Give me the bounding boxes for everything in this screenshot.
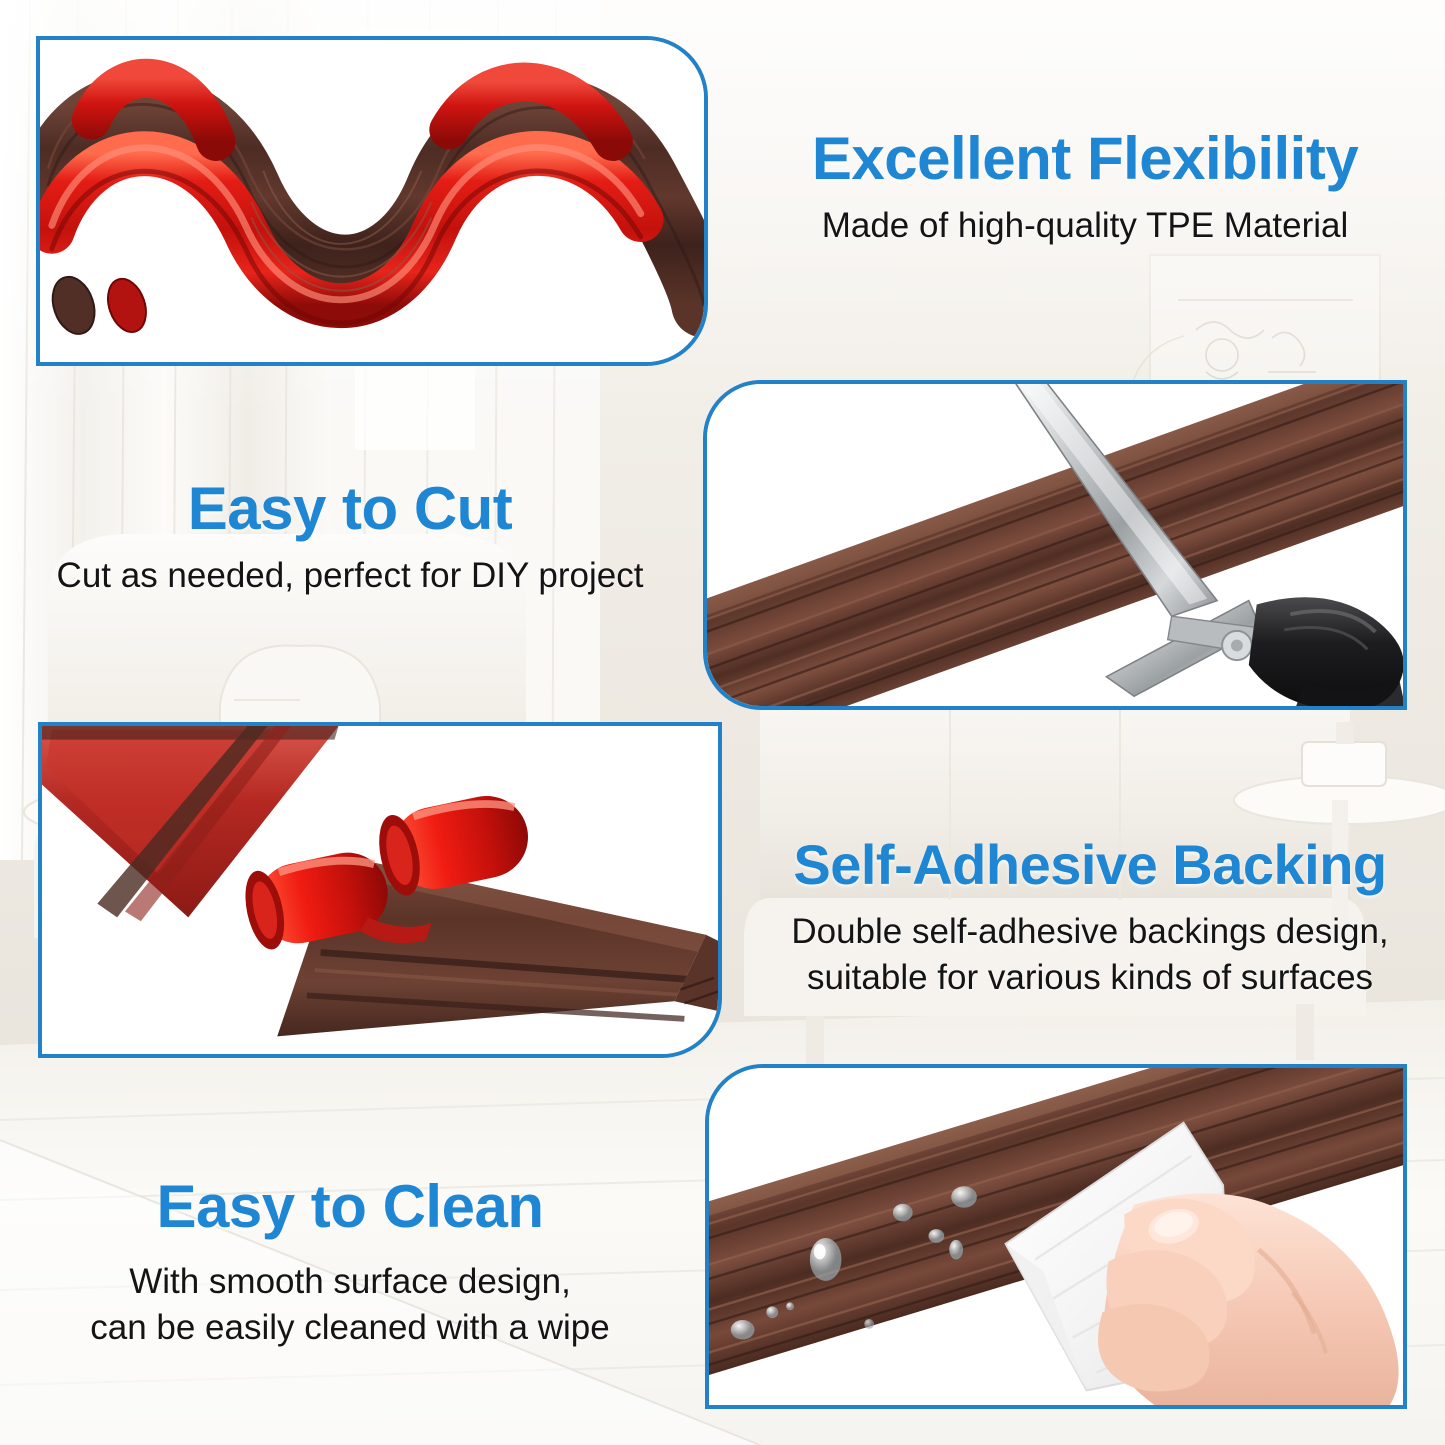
feature-image-panel-easy-to-cut: [703, 380, 1407, 710]
feature-text-self-adhesive: Self-Adhesive Backing Double self-adhesi…: [740, 836, 1440, 1000]
feature-text-easy-to-clean: Easy to Clean With smooth surface design…: [0, 1176, 700, 1350]
feature-subtext-easy-to-clean-line-1: With smooth surface design,: [0, 1259, 700, 1305]
feature-image-panel-self-adhesive: [38, 722, 722, 1058]
feature-text-flexibility: Excellent Flexibility Made of high-quali…: [735, 128, 1435, 249]
coiled-weather-strip-photo: [40, 40, 704, 362]
feature-headline-easy-to-clean: Easy to Clean: [0, 1176, 700, 1237]
feature-headline-self-adhesive: Self-Adhesive Backing: [740, 836, 1440, 893]
feature-image-panel-easy-to-clean: [705, 1064, 1407, 1409]
feature-subtext-easy-to-cut-line-1: Cut as needed, perfect for DIY project: [0, 553, 700, 599]
scissors-cutting-strip-photo: [707, 384, 1403, 706]
feature-image-panel-flexibility: [36, 36, 708, 366]
feature-subtext-self-adhesive-line-2: suitable for various kinds of surfaces: [740, 955, 1440, 1001]
adhesive-backing-photo: [42, 726, 718, 1054]
feature-headline-easy-to-cut: Easy to Cut: [0, 478, 700, 539]
feature-headline-flexibility: Excellent Flexibility: [735, 128, 1435, 189]
feature-text-easy-to-cut: Easy to Cut Cut as needed, perfect for D…: [0, 478, 700, 599]
wiping-strip-photo: [709, 1068, 1403, 1405]
feature-subtext-self-adhesive-line-1: Double self-adhesive backings design,: [740, 909, 1440, 955]
feature-subtext-easy-to-clean-line-2: can be easily cleaned with a wipe: [0, 1305, 700, 1351]
feature-subtext-flexibility-line-1: Made of high-quality TPE Material: [735, 203, 1435, 249]
